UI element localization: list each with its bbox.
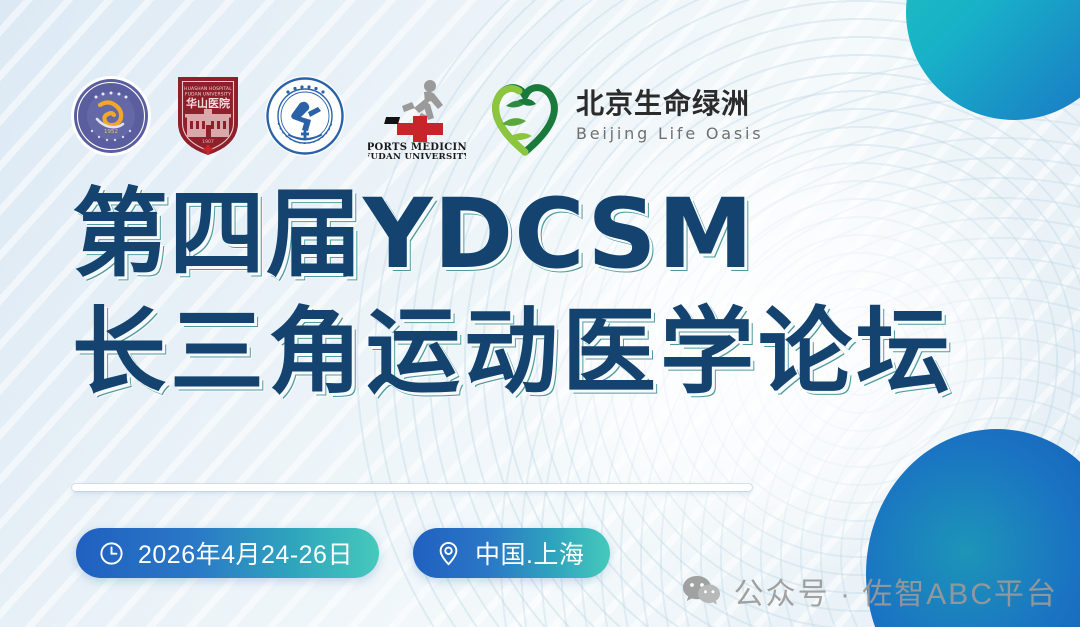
beijing-life-oasis-en-text: Beijing Life Oasis — [576, 124, 763, 143]
event-poster: 1952 HUASHAN HOSPITAL FUDAN UNIVERSITY 华… — [0, 0, 1080, 627]
svg-text:华山医院: 华山医院 — [186, 96, 230, 110]
svg-text:FUDAN UNIVERSITY: FUDAN UNIVERSITY — [368, 152, 466, 160]
poster-title: 第四届YDCSM 长三角运动医学论坛 — [72, 186, 1032, 400]
huashan-hospital-shield-icon: HUASHAN HOSPITAL FUDAN UNIVERSITY 华山医院 1… — [174, 73, 242, 159]
event-date-pill: 2026年4月24-26日 — [76, 528, 379, 578]
svg-text:HUASHAN HOSPITAL: HUASHAN HOSPITAL — [184, 86, 232, 92]
event-location-label: 中国.上海 — [475, 535, 584, 571]
wechat-glyph-icon — [682, 574, 722, 608]
location-pin-icon — [435, 540, 462, 567]
event-info-row: 2026年4月24-26日 中国.上海 — [76, 528, 610, 578]
title-line-primary: 第四届YDCSM — [72, 186, 1032, 282]
title-line-secondary: 长三角运动医学论坛 — [72, 306, 1032, 400]
beijing-life-oasis-heart-icon — [488, 76, 562, 156]
decorative-circle-top-right — [906, 0, 1080, 120]
wechat-watermark-label: 公众号 · 佐智ABC平台 — [734, 569, 1058, 613]
event-date-label: 2026年4月24-26日 — [138, 535, 353, 571]
wechat-icon — [682, 574, 722, 608]
svg-text:1952: 1952 — [104, 129, 118, 135]
sports-medicine-runner-cross-icon: SPORTS MEDICINE FUDAN UNIVERSITY — [368, 72, 466, 160]
title-divider — [72, 484, 752, 491]
event-location-pill: 中国.上海 — [413, 528, 610, 578]
shanghai-university-of-sport-seal-icon: 1952 — [70, 75, 152, 157]
logo-sports-rehabilitation-seal — [264, 70, 346, 162]
wechat-watermark: 公众号 · 佐智ABC平台 — [682, 569, 1058, 613]
logo-huashan-hospital: HUASHAN HOSPITAL FUDAN UNIVERSITY 华山医院 1… — [174, 70, 242, 162]
beijing-life-oasis-cn-text: 北京生命绿洲 — [576, 89, 763, 120]
logo-beijing-life-oasis: 北京生命绿洲 Beijing Life Oasis — [488, 70, 763, 162]
sports-rehabilitation-seal-icon — [264, 75, 346, 157]
organizer-logo-row: 1952 HUASHAN HOSPITAL FUDAN UNIVERSITY 华… — [70, 70, 763, 162]
clock-icon — [98, 540, 125, 567]
logo-shanghai-university-of-sport: 1952 — [70, 70, 152, 162]
logo-sports-medicine-fudan: SPORTS MEDICINE FUDAN UNIVERSITY — [368, 70, 466, 162]
svg-text:1907: 1907 — [202, 139, 214, 145]
